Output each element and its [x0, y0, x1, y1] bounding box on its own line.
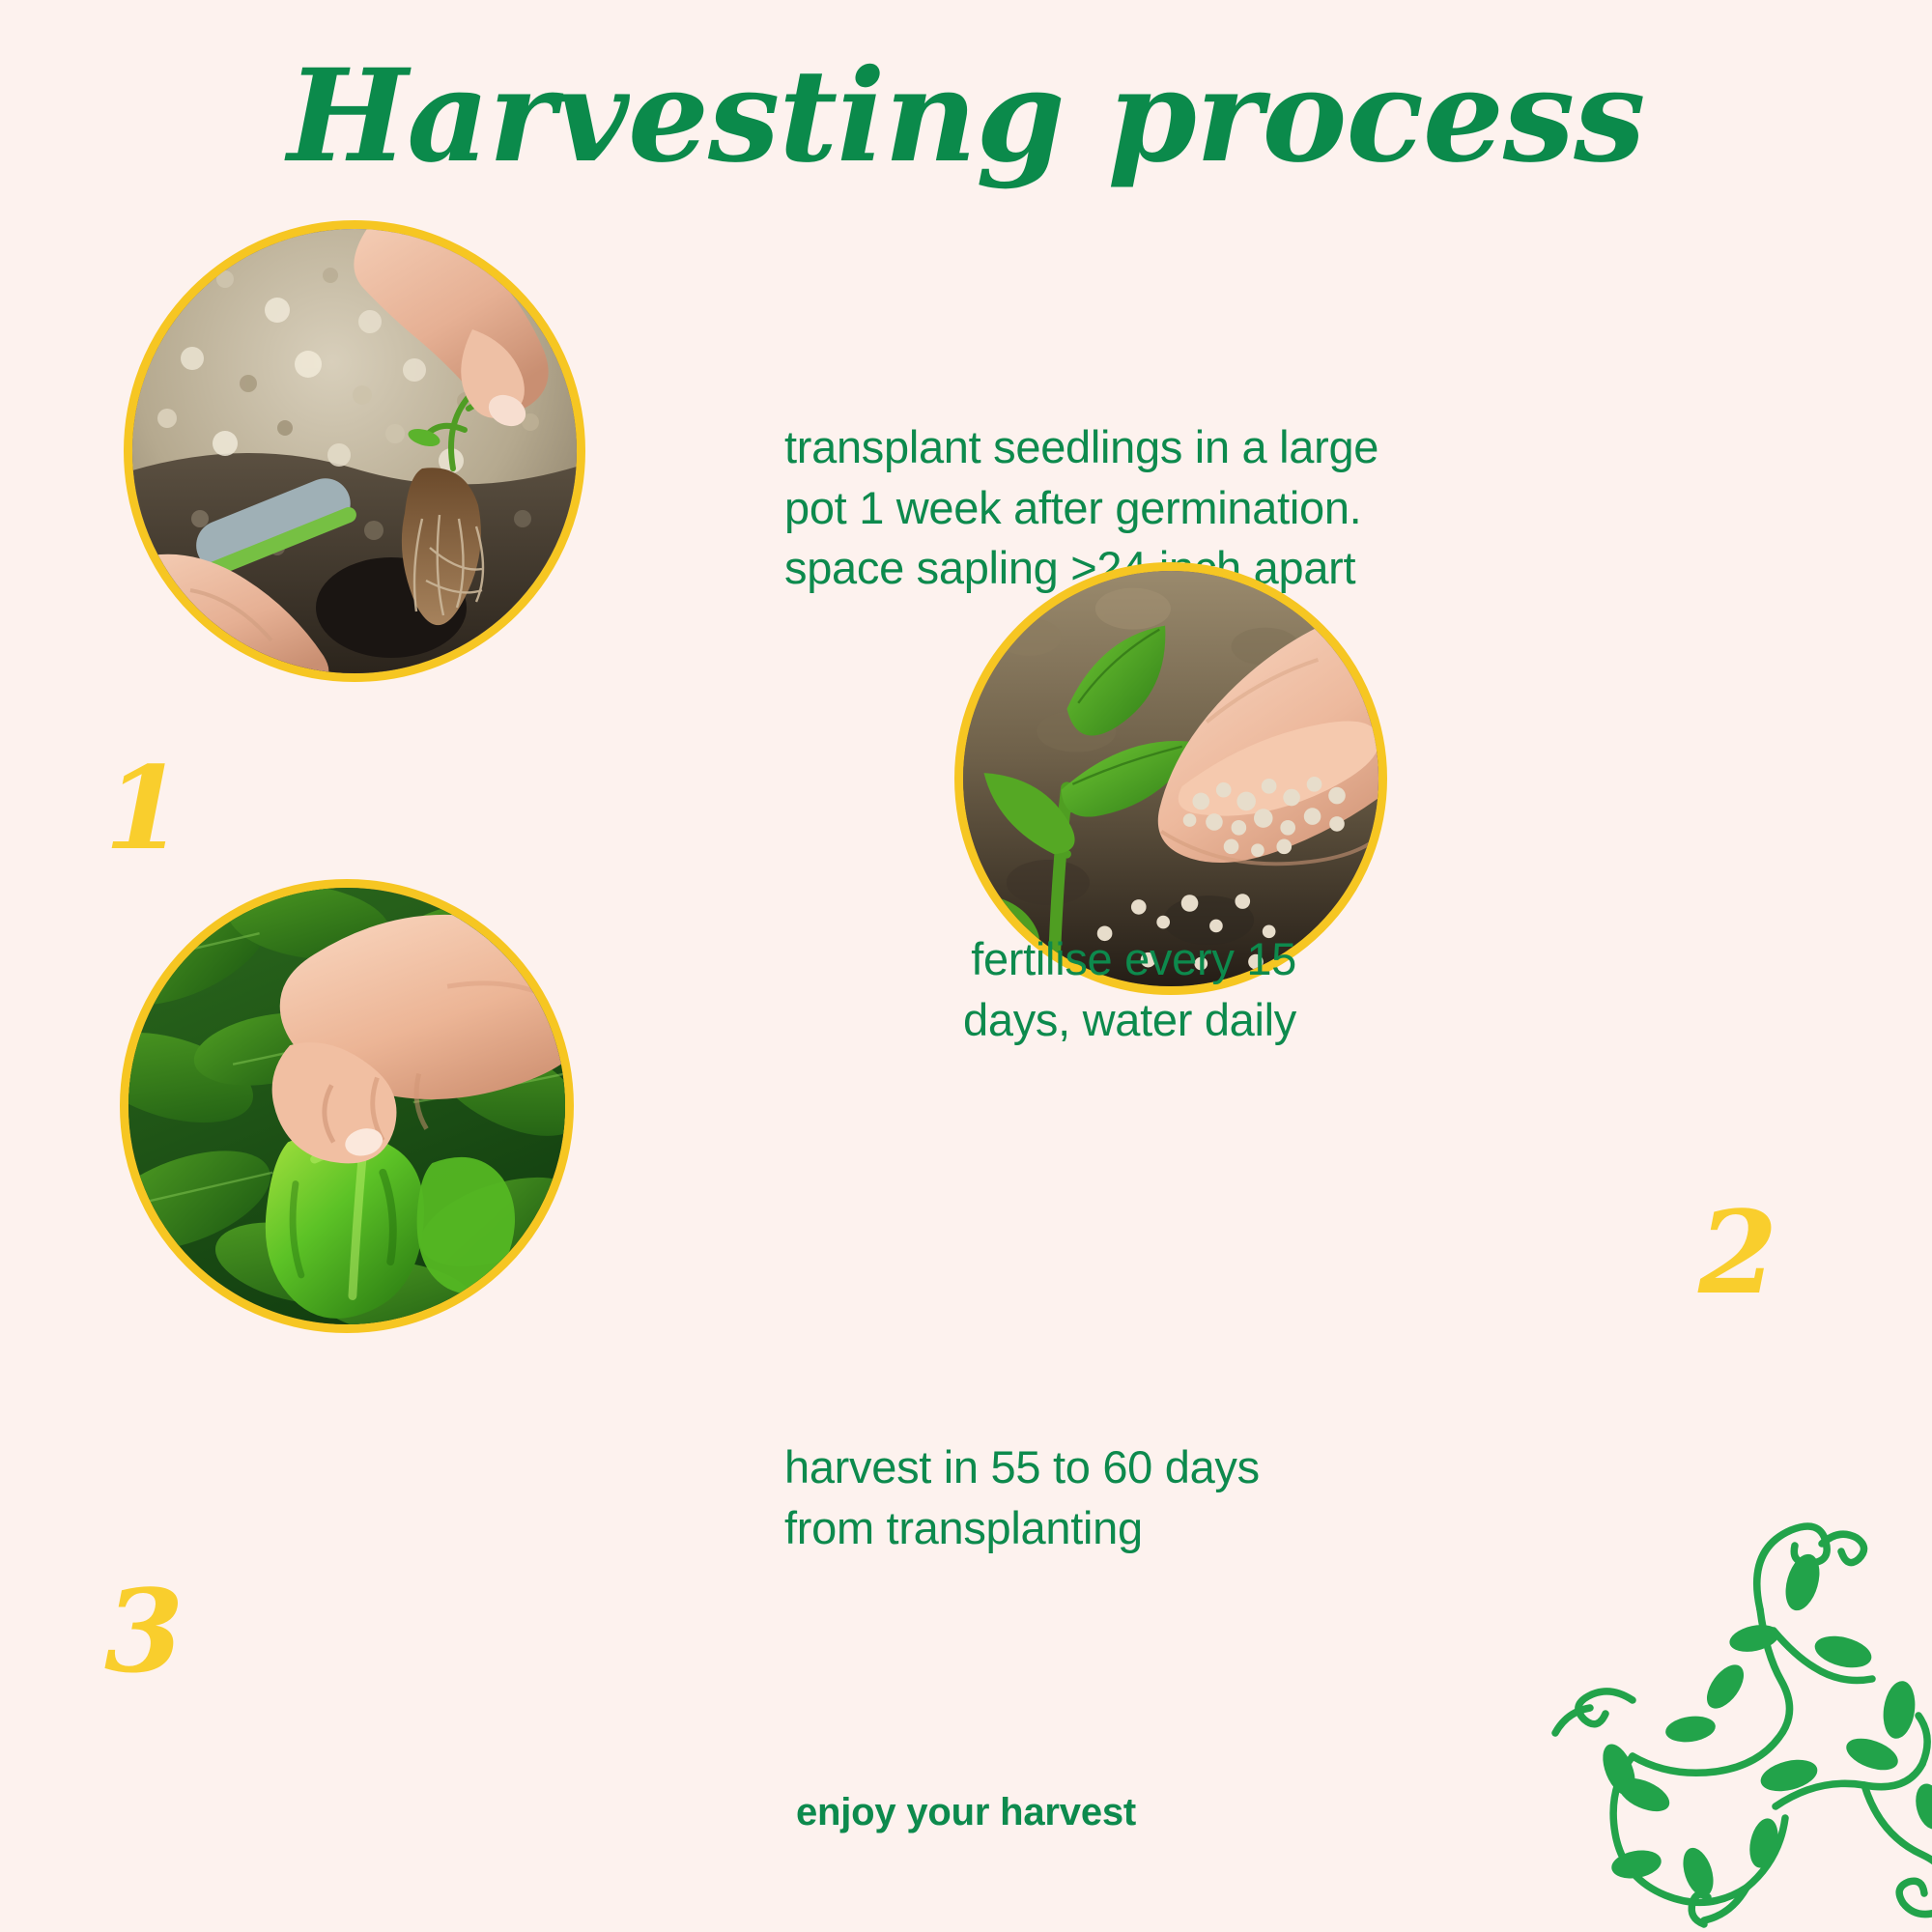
infographic-poster: Harvesting process	[0, 0, 1932, 1932]
step-2-caption: fertilise every 15 days, water daily	[580, 929, 1296, 1050]
fertilising-seedling-photo	[963, 571, 1378, 986]
step-2-number: 2	[1698, 1196, 1777, 1310]
footer-text: enjoy your harvest	[0, 1791, 1932, 1834]
step-3-caption: harvest in 55 to 60 days from transplant…	[784, 1437, 1577, 1558]
vine-illustration	[1536, 1488, 1932, 1932]
step-3-photo	[120, 879, 574, 1333]
step-1-number: 1	[104, 752, 184, 866]
vine-leaves-icon	[1536, 1488, 1932, 1932]
transplanting-seedling-photo	[132, 229, 577, 673]
step-3-number: 3	[104, 1575, 184, 1689]
page-title: Harvesting process	[0, 46, 1932, 186]
step-1-photo	[124, 220, 585, 682]
harvesting-pepper-photo	[128, 888, 565, 1324]
